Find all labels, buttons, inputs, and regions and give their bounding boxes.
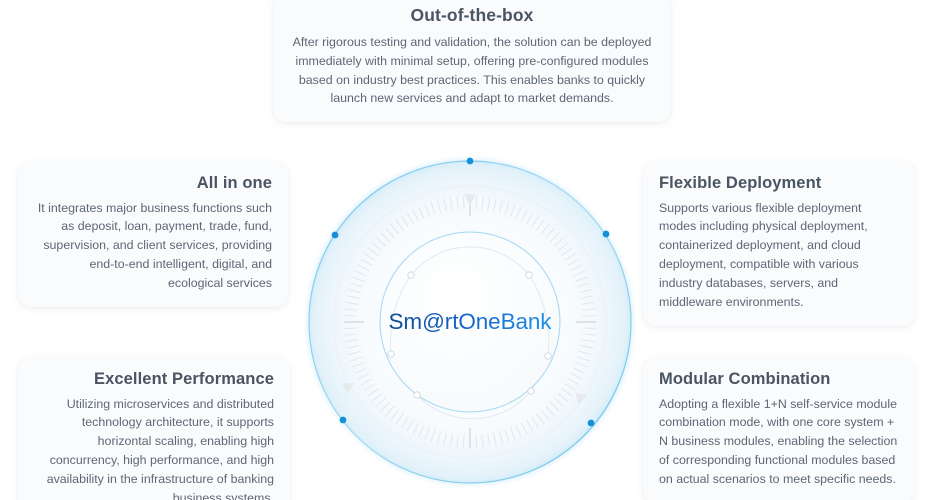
node-marker-top-left: [408, 272, 414, 278]
tick-mark: [476, 435, 477, 448]
card-body: Utilizing microservices and distributed …: [34, 395, 274, 500]
tick-mark: [344, 328, 357, 329]
tick-mark: [583, 315, 596, 316]
accent-dot-lower-right: [588, 420, 595, 427]
tick-mark: [583, 328, 596, 329]
tick-mark: [344, 315, 357, 316]
card-body: Supports various flexible deployment mod…: [659, 199, 899, 312]
card-title: Flexible Deployment: [659, 173, 899, 194]
card-body: After rigorous testing and validation, t…: [289, 33, 655, 108]
card-out-of-the-box[interactable]: Out-of-the-box After rigorous testing an…: [273, 0, 671, 122]
node-marker-right: [545, 353, 551, 359]
card-title: Modular Combination: [659, 369, 899, 390]
node-marker-bottom-left: [414, 392, 420, 398]
card-excellent-performance[interactable]: Excellent Performance Utilizing microser…: [18, 357, 290, 500]
card-modular-combination[interactable]: Modular Combination Adopting a flexible …: [643, 357, 915, 500]
card-body: It integrates major business functions s…: [34, 199, 272, 293]
accent-dot-upper-right: [603, 231, 610, 238]
tick-mark: [463, 196, 464, 209]
card-flexible-deployment[interactable]: Flexible Deployment Supports various fle…: [643, 161, 915, 326]
card-all-in-one[interactable]: All in one It integrates major business …: [18, 161, 288, 307]
central-circular-graphic: Sm@rtOneBank: [299, 151, 641, 493]
accent-dot-upper-left: [332, 232, 339, 239]
accent-dot-lower-left: [340, 417, 347, 424]
accent-dot-top: [467, 158, 474, 165]
card-title: Out-of-the-box: [289, 5, 655, 27]
infographic-page: Sm@rtOneBank Out-of-the-box After rigoro…: [0, 0, 941, 500]
inner-disc: [380, 232, 560, 412]
tick-mark: [463, 435, 464, 448]
node-marker-top-right: [526, 272, 532, 278]
card-title: All in one: [34, 173, 272, 194]
node-marker-left: [388, 351, 394, 357]
circular-diagram-svg: [299, 151, 641, 493]
card-body: Adopting a flexible 1+N self-service mod…: [659, 395, 899, 489]
card-title: Excellent Performance: [34, 369, 274, 390]
node-marker-bottom-right: [528, 388, 534, 394]
tick-mark: [476, 196, 477, 209]
